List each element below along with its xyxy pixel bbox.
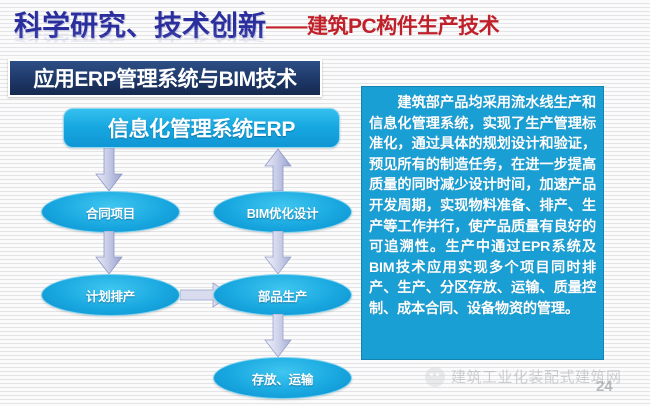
flow-node-produce[interactable]: 部品生产 <box>213 274 352 316</box>
slide-canvas: 科学研究、技术创新——建筑PC构件生产技术 科学研究、技术创新 应用ERP管理系… <box>0 0 650 406</box>
watermark: 建筑工业化装配式建筑网 <box>425 366 622 387</box>
flow-node-erp-label: 信息化管理系统ERP <box>108 113 295 143</box>
page-number: 24 <box>596 378 613 395</box>
flow-node-storage[interactable]: 存放、运输 <box>213 357 352 399</box>
title-sub-text: ——建筑PC构件生产技术 <box>266 15 499 38</box>
flow-node-produce-label: 部品生产 <box>258 286 307 305</box>
slide-title-bar: 科学研究、技术创新——建筑PC构件生产技术 科学研究、技术创新 <box>0 8 650 52</box>
flow-node-erp[interactable]: 信息化管理系统ERP <box>63 108 340 148</box>
flow-node-bim[interactable]: BIM优化设计 <box>213 191 352 233</box>
arrow-bim-to-erp <box>264 148 292 192</box>
flow-node-contract[interactable]: 合同项目 <box>41 191 180 233</box>
wechat-icon <box>425 367 445 387</box>
arrow-produce-to-storage <box>264 314 292 358</box>
title-main-text: 科学研究、技术创新 <box>14 10 266 41</box>
flow-diagram: 信息化管理系统ERP <box>0 86 361 406</box>
info-panel-body: 建筑部产品均采用流水线生产和信息化管理系统，实现了生产管理标准化，通过具体的规划… <box>369 93 596 320</box>
page-title: 科学研究、技术创新——建筑PC构件生产技术 <box>14 12 499 40</box>
info-panel: 建筑部产品均采用流水线生产和信息化管理系统，实现了生产管理标准化，通过具体的规划… <box>361 86 604 360</box>
flow-node-bim-label: BIM优化设计 <box>247 203 319 222</box>
arrow-contract-to-plan <box>95 231 123 275</box>
flow-node-plan[interactable]: 计划排产 <box>41 274 180 316</box>
arrow-erp-to-contract <box>95 148 123 192</box>
flow-node-contract-label: 合同项目 <box>86 203 135 222</box>
flow-node-storage-label: 存放、运输 <box>252 369 314 388</box>
flow-node-plan-label: 计划排产 <box>86 286 135 305</box>
arrow-bim-to-produce <box>264 231 292 275</box>
